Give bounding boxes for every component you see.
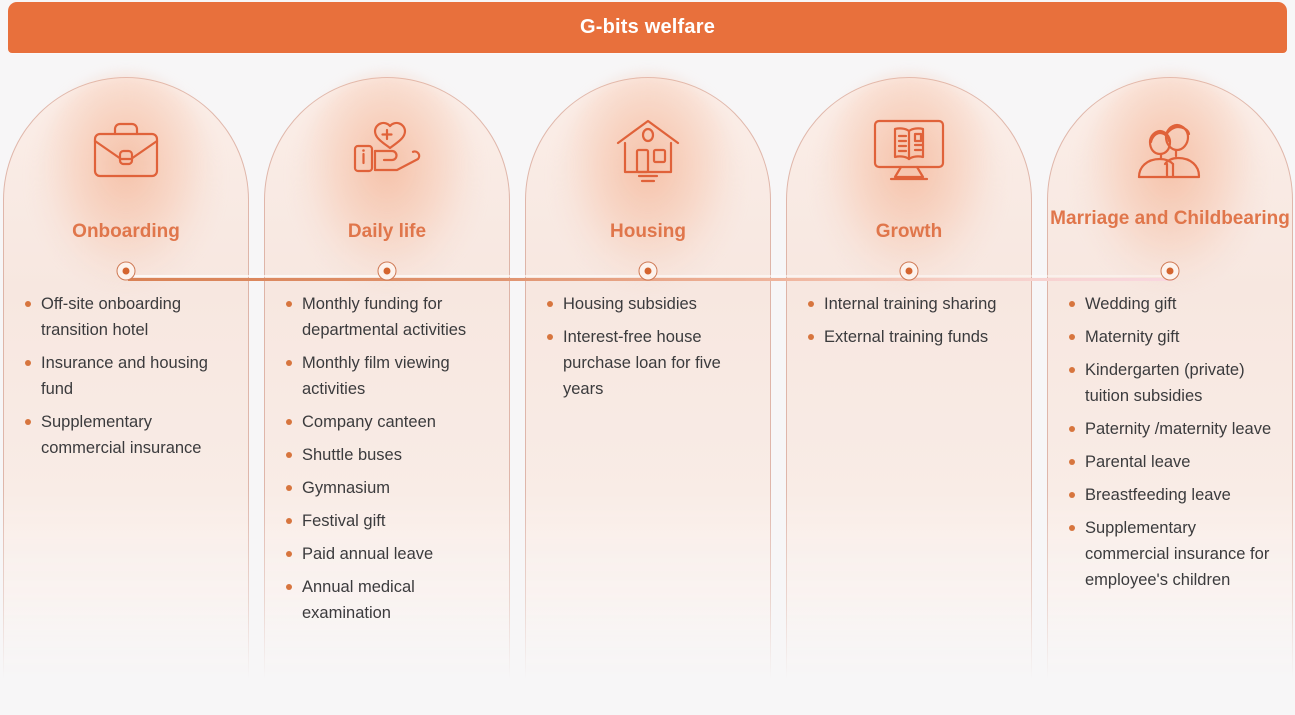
bullet-dot [547,334,553,340]
bullet-dot [286,360,292,366]
benefits-list: Wedding gift Maternity gift Kindergarten… [1047,291,1293,600]
list-item-label: Maternity gift [1085,328,1179,346]
list-item-label: Supplementary commercial insurance for e… [1085,519,1269,589]
bullet-dot [286,419,292,425]
category-column-growth[interactable]: Growth Internal training sharing Externa… [786,55,1032,640]
list-item: Gymnasium [280,475,500,501]
list-item-label: Shuttle buses [302,446,402,464]
list-item: Shuttle buses [280,442,500,468]
bullet-dot [547,301,553,307]
column-title: Growth [786,220,1032,244]
list-item-label: Wedding gift [1085,295,1176,313]
list-item-label: Kindergarten (private) tuition subsidies [1085,361,1245,405]
bullet-dot [286,518,292,524]
bullet-dot [1069,492,1075,498]
list-item-label: Insurance and housing fund [41,354,208,398]
bullet-dot [808,301,814,307]
bullet-dot [1069,525,1075,531]
list-item: Company canteen [280,409,500,435]
list-item: Festival gift [280,508,500,534]
list-item: Housing subsidies [541,291,761,317]
list-item-label: Breastfeeding leave [1085,486,1231,504]
monitor-book-icon [866,107,952,193]
timeline-node[interactable] [117,262,136,281]
list-item: Off-site onboarding transition hotel [19,291,239,343]
list-item-label: Interest-free house purchase loan for fi… [563,328,721,398]
benefits-list: Monthly funding for departmental activit… [264,291,510,633]
bullet-dot [286,452,292,458]
list-item: Insurance and housing fund [19,350,239,402]
list-item-label: Off-site onboarding transition hotel [41,295,181,339]
page-title: G-bits welfare [580,16,715,39]
timeline-node[interactable] [639,262,658,281]
bullet-dot [286,584,292,590]
hand-heart-care-icon [344,107,430,193]
list-item-label: Company canteen [302,413,436,431]
house-icon [605,107,691,193]
list-item-label: Supplementary commercial insurance [41,413,201,457]
list-item-label: Annual medical examination [302,578,415,622]
list-item: Kindergarten (private) tuition subsidies [1063,357,1283,409]
list-item: External training funds [802,324,1022,350]
bullet-dot [1069,301,1075,307]
benefits-list: Off-site onboarding transition hotel Ins… [3,291,249,468]
column-title: Onboarding [3,220,249,244]
column-title: Daily life [264,220,510,244]
list-item-label: Internal training sharing [824,295,996,313]
list-item: Parental leave [1063,449,1283,475]
list-item: Supplementary commercial insurance for e… [1063,515,1283,593]
bullet-dot [25,360,31,366]
bullet-dot [286,485,292,491]
list-item-label: Monthly film viewing activities [302,354,450,398]
infographic-page: G-bits welfare Onboarding [0,0,1295,715]
bullet-dot [286,551,292,557]
page-header: G-bits welfare [8,2,1287,53]
timeline-node[interactable] [378,262,397,281]
list-item: Breastfeeding leave [1063,482,1283,508]
list-item-label: Paid annual leave [302,545,433,563]
column-title: Marriage and Childbearing [1047,207,1293,231]
list-item-label: Monthly funding for departmental activit… [302,295,466,339]
category-column-housing[interactable]: Housing Housing subsidies Interest-free … [525,55,771,640]
column-title: Housing [525,220,771,244]
list-item: Wedding gift [1063,291,1283,317]
category-column-onboarding[interactable]: Onboarding Off-site onboarding transitio… [3,55,249,640]
bullet-dot [1069,426,1075,432]
briefcase-icon [83,107,169,193]
list-item: Supplementary commercial insurance [19,409,239,461]
bullet-dot [25,419,31,425]
list-item: Annual medical examination [280,574,500,626]
bullet-dot [1069,334,1075,340]
list-item-label: Gymnasium [302,479,390,497]
list-item: Paid annual leave [280,541,500,567]
couple-icon [1127,107,1213,193]
list-item: Monthly funding for departmental activit… [280,291,500,343]
bullet-dot [808,334,814,340]
timeline-node[interactable] [1161,262,1180,281]
bullet-dot [25,301,31,307]
list-item-label: Paternity /maternity leave [1085,420,1271,438]
list-item: Interest-free house purchase loan for fi… [541,324,761,402]
list-item: Paternity /maternity leave [1063,416,1283,442]
list-item-label: External training funds [824,328,988,346]
list-item-label: Housing subsidies [563,295,697,313]
category-column-marriage-childbearing[interactable]: Marriage and Childbearing Wedding gift M… [1047,55,1293,640]
list-item: Monthly film viewing activities [280,350,500,402]
timeline-node[interactable] [900,262,919,281]
category-columns: Onboarding Off-site onboarding transitio… [0,55,1295,715]
list-item: Maternity gift [1063,324,1283,350]
list-item: Internal training sharing [802,291,1022,317]
list-item-label: Parental leave [1085,453,1191,471]
bullet-dot [286,301,292,307]
bullet-dot [1069,367,1075,373]
bullet-dot [1069,459,1075,465]
list-item-label: Festival gift [302,512,385,530]
benefits-list: Internal training sharing External train… [786,291,1032,357]
benefits-list: Housing subsidies Interest-free house pu… [525,291,771,409]
category-column-daily-life[interactable]: Daily life Monthly funding for departmen… [264,55,510,640]
